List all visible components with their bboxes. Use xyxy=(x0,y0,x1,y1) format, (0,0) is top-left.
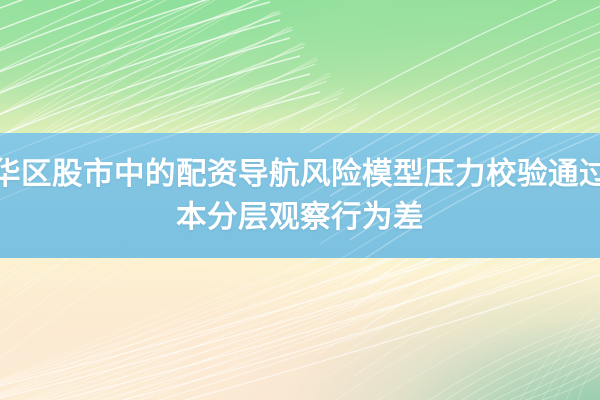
banner-title-line-1: 中华区股市中的配资导航风险模型压力校验通过样 xyxy=(0,153,600,196)
banner-image: 中华区股市中的配资导航风险模型压力校验通过样 本分层观察行为差 xyxy=(0,0,600,400)
banner-title: 中华区股市中的配资导航风险模型压力校验通过样 本分层观察行为差 xyxy=(0,133,600,258)
banner-title-line-2: 本分层观察行为差 xyxy=(176,196,424,239)
